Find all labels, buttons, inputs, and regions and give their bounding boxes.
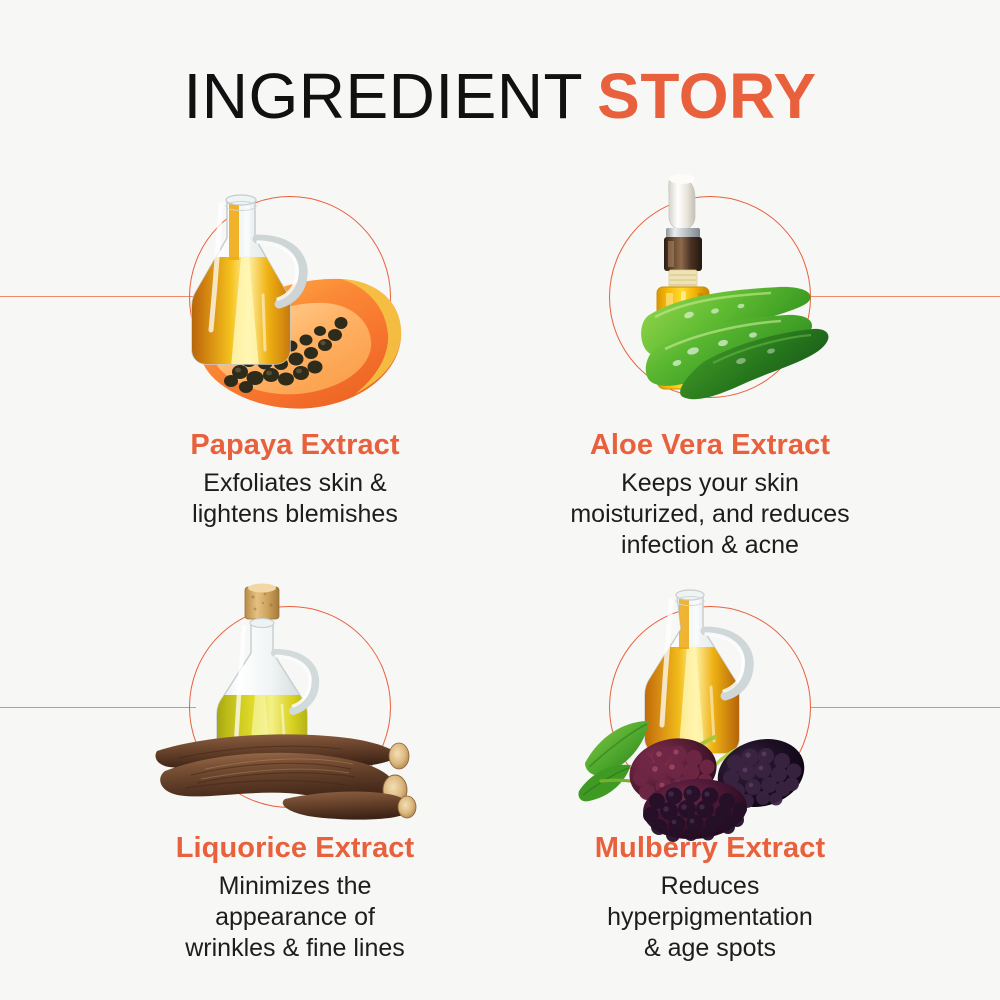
page-title-bold: STORY (597, 60, 816, 132)
card-liquorice-caption: Liquorice Extract Minimizes the appearan… (85, 831, 505, 964)
page-title-light: INGREDIENT (183, 60, 583, 132)
connector-line-bottom-right (810, 707, 1000, 708)
card-papaya-description: Exfoliates skin & lightens blemishes (85, 468, 505, 530)
card-mulberry-caption: Mulberry Extract Reduces hyperpigmentati… (500, 831, 920, 964)
card-papaya-caption: Papaya Extract Exfoliates skin & lighten… (85, 428, 505, 530)
ingredient-story-infographic: INGREDIENTSTORY (0, 0, 1000, 1000)
card-aloe-vera-title: Aloe Vera Extract (500, 428, 920, 462)
connector-line-bottom-left (0, 707, 196, 708)
circle-outline-mulberry (609, 606, 811, 808)
card-aloe-vera-caption: Aloe Vera Extract Keeps your skin moistu… (500, 428, 920, 561)
card-liquorice-title: Liquorice Extract (85, 831, 505, 865)
connector-line-top-left (0, 296, 196, 297)
card-aloe-vera-description: Keeps your skin moisturized, and reduces… (500, 468, 920, 561)
circle-outline-liquorice (189, 606, 391, 808)
card-mulberry-title: Mulberry Extract (500, 831, 920, 865)
card-papaya-title: Papaya Extract (85, 428, 505, 462)
circle-outline-papaya (189, 196, 391, 398)
connector-line-top-right (810, 296, 1000, 297)
card-liquorice-description: Minimizes the appearance of wrinkles & f… (85, 871, 505, 964)
page-title: INGREDIENTSTORY (0, 64, 1000, 128)
circle-outline-aloe-vera (609, 196, 811, 398)
card-mulberry-description: Reduces hyperpigmentation & age spots (500, 871, 920, 964)
